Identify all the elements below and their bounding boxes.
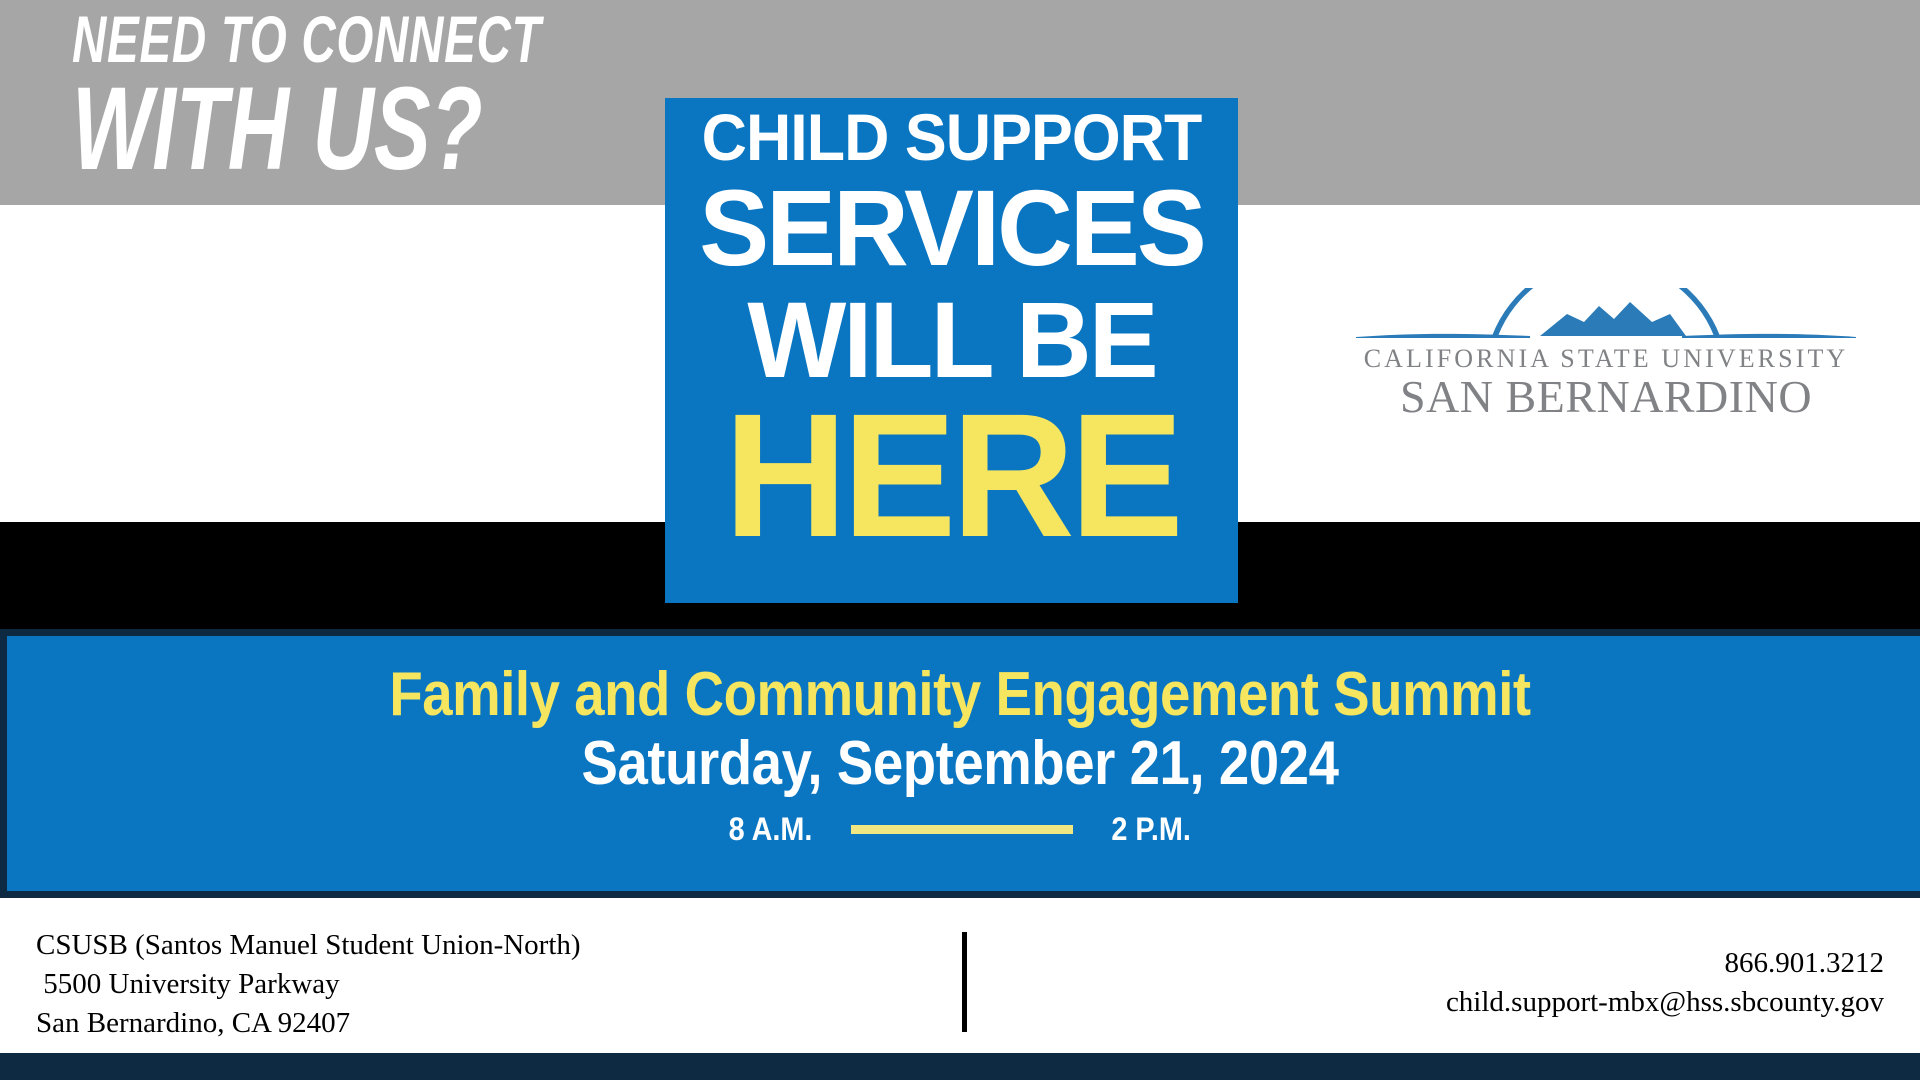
address-line-2: 5500 University Parkway <box>36 968 340 1000</box>
event-title: Family and Community Engagement Summit <box>115 662 1805 727</box>
contact-phone[interactable]: 866.901.3212 <box>1446 944 1884 983</box>
time-range-rule <box>851 825 1073 834</box>
venue-address: CSUSB (Santos Manuel Student Union-North… <box>36 926 581 1043</box>
hero-line-4-here: HERE <box>674 388 1230 564</box>
contact-email[interactable]: child.support-mbx@hss.sbcounty.gov <box>1446 983 1884 1022</box>
footer-navy-strip <box>0 1053 1920 1080</box>
event-details-inner: Family and Community Engagement Summit S… <box>0 636 1920 848</box>
logo-bottom-line: SAN BERNARDINO <box>1400 371 1812 418</box>
hero-text-block: CHILD SUPPORT SERVICES WILL BE HERE <box>665 98 1238 564</box>
headline-line-1: NEED TO CONNECT <box>72 8 541 71</box>
address-line-1: CSUSB (Santos Manuel Student Union-North… <box>36 929 581 961</box>
event-details-banner: Family and Community Engagement Summit S… <box>0 629 1920 898</box>
address-line-3: San Bernardino, CA 92407 <box>36 1007 350 1039</box>
headline-line-2: WITH US? <box>72 73 541 185</box>
hero-line-2: SERVICES <box>674 174 1230 282</box>
contact-divider <box>962 932 967 1032</box>
connect-headline: NEED TO CONNECT WITH US? <box>72 8 541 185</box>
csusb-logo: CALIFORNIA STATE UNIVERSITY SAN BERNARDI… <box>1352 288 1860 418</box>
flyer-canvas: NEED TO CONNECT WITH US? CALIFORNIA STAT… <box>0 0 1920 1080</box>
event-end-time: 2 P.M. <box>1112 811 1192 848</box>
hero-line-1: CHILD SUPPORT <box>679 98 1223 170</box>
logo-top-line: CALIFORNIA STATE UNIVERSITY <box>1364 344 1849 373</box>
event-date: Saturday, September 21, 2024 <box>115 729 1805 798</box>
event-start-time: 8 A.M. <box>729 811 813 848</box>
event-time-row: 8 A.M. 2 P.M. <box>0 811 1920 848</box>
contact-details: 866.901.3212 child.support-mbx@hss.sbcou… <box>1446 944 1884 1022</box>
